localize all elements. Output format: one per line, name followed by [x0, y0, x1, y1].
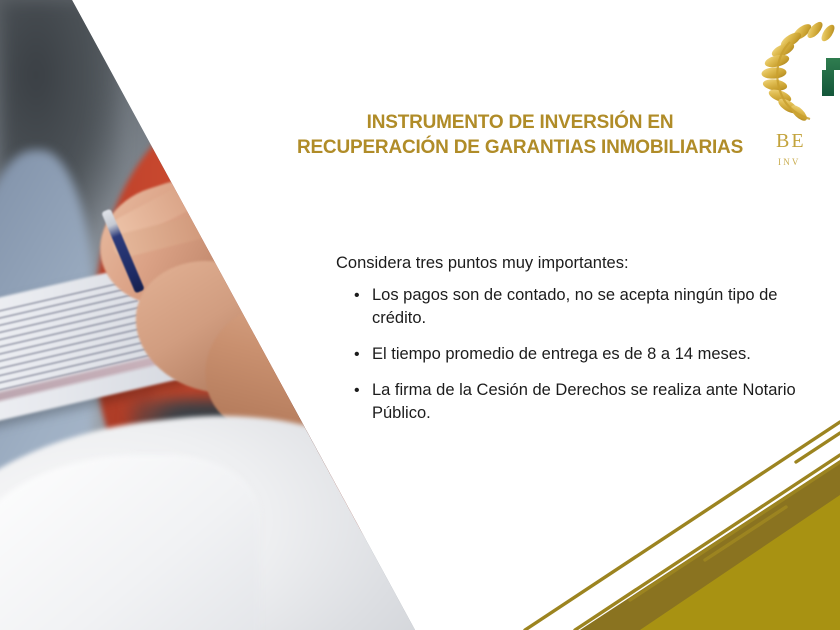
decor-thin-stripes	[525, 422, 840, 630]
slide-title: INSTRUMENTO DE INVERSIÓN EN RECUPERACIÓN…	[270, 110, 770, 160]
decor-band-gold	[640, 495, 840, 630]
body-bullet-list: • Los pagos son de contado, no se acepta…	[336, 284, 836, 425]
list-item-text: La firma de la Cesión de Derechos se rea…	[372, 381, 796, 422]
slide-title-line-1: INSTRUMENTO DE INVERSIÓN EN	[270, 110, 770, 135]
presentation-slide: INSTRUMENTO DE INVERSIÓN EN RECUPERACIÓN…	[0, 0, 840, 630]
laurel-wreath-icon	[760, 18, 840, 128]
slide-title-line-2: RECUPERACIÓN DE GARANTIAS INMOBILIARIAS	[270, 135, 770, 160]
list-item: • La firma de la Cesión de Derechos se r…	[336, 379, 836, 425]
logo-subtext: INV	[778, 157, 801, 167]
photo-foreground-shoulder-highlight	[0, 455, 260, 630]
slide-body: Considera tres puntos muy importantes: •…	[336, 252, 836, 425]
list-item: • El tiempo promedio de entrega es de 8 …	[336, 343, 836, 366]
bullet-dot-icon: •	[354, 343, 360, 366]
diagonal-stripes-graphic	[500, 400, 840, 630]
list-item: • Los pagos son de contado, no se acepta…	[336, 284, 836, 330]
list-item-text: Los pagos son de contado, no se acepta n…	[372, 286, 777, 327]
logo-wordmark: BE	[776, 130, 806, 153]
company-logo: BE INV	[760, 18, 840, 178]
list-item-text: El tiempo promedio de entrega es de 8 a …	[372, 345, 751, 363]
bullet-dot-icon: •	[354, 284, 360, 307]
body-lead-text: Considera tres puntos muy importantes:	[336, 252, 836, 275]
corner-decoration	[500, 400, 840, 630]
bullet-dot-icon: •	[354, 379, 360, 402]
decor-band-dark	[580, 460, 840, 630]
